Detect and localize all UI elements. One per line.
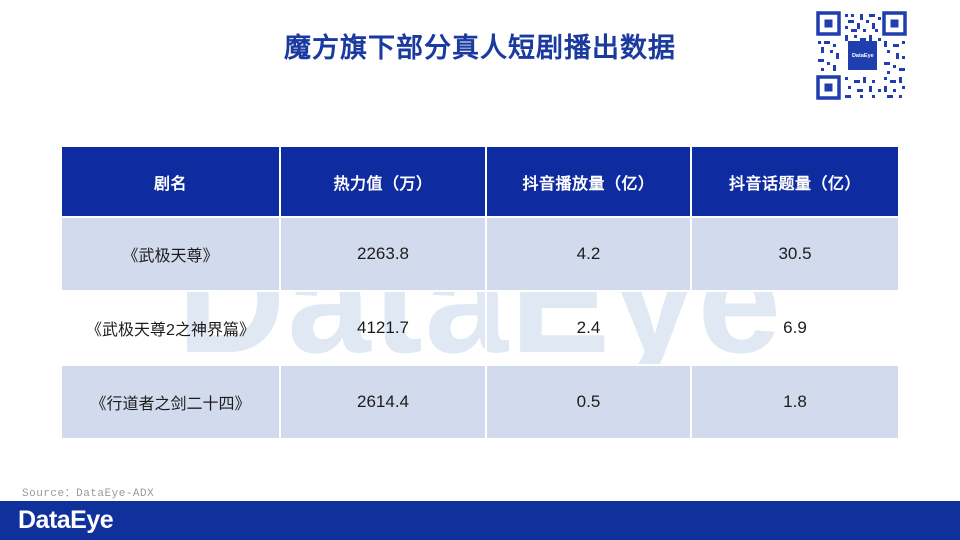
dataeye-logo: DataEye xyxy=(18,507,168,533)
slide-root: DataEye 魔方旗下部分真人短剧播出数据 xyxy=(0,0,960,540)
qr-code[interactable]: DataEye xyxy=(812,8,912,104)
cell-topic: 1.8 xyxy=(692,364,898,438)
source-note: Source：DataEye-ADX xyxy=(22,484,154,500)
column-header-name: 剧名 xyxy=(62,147,281,216)
qr-center-logo: DataEye xyxy=(848,41,877,70)
data-table: 剧名 热力值（万） 抖音播放量（亿） 抖音话题量（亿） 《武极天尊》 2263.… xyxy=(62,147,898,438)
cell-topic: 30.5 xyxy=(692,216,898,290)
svg-text:DataEye: DataEye xyxy=(18,507,114,533)
cell-heat: 2263.8 xyxy=(281,216,487,290)
column-header-plays: 抖音播放量（亿） xyxy=(487,147,692,216)
table-header-row: 剧名 热力值（万） 抖音播放量（亿） 抖音话题量（亿） xyxy=(62,147,898,216)
cell-plays: 0.5 xyxy=(487,364,692,438)
cell-heat: 4121.7 xyxy=(281,290,487,364)
table-row: 《武极天尊2之神界篇》 4121.7 2.4 6.9 xyxy=(62,290,898,364)
qr-center-label: DataEye xyxy=(852,53,874,59)
table-row: 《行道者之剑二十四》 2614.4 0.5 1.8 xyxy=(62,364,898,438)
cell-name: 《武极天尊》 xyxy=(62,216,281,290)
column-header-topic: 抖音话题量（亿） xyxy=(692,147,898,216)
cell-name: 《行道者之剑二十四》 xyxy=(62,364,281,438)
cell-plays: 4.2 xyxy=(487,216,692,290)
cell-plays: 2.4 xyxy=(487,290,692,364)
column-header-heat: 热力值（万） xyxy=(281,147,487,216)
cell-name: 《武极天尊2之神界篇》 xyxy=(62,290,281,364)
cell-topic: 6.9 xyxy=(692,290,898,364)
cell-heat: 2614.4 xyxy=(281,364,487,438)
table-row: 《武极天尊》 2263.8 4.2 30.5 xyxy=(62,216,898,290)
